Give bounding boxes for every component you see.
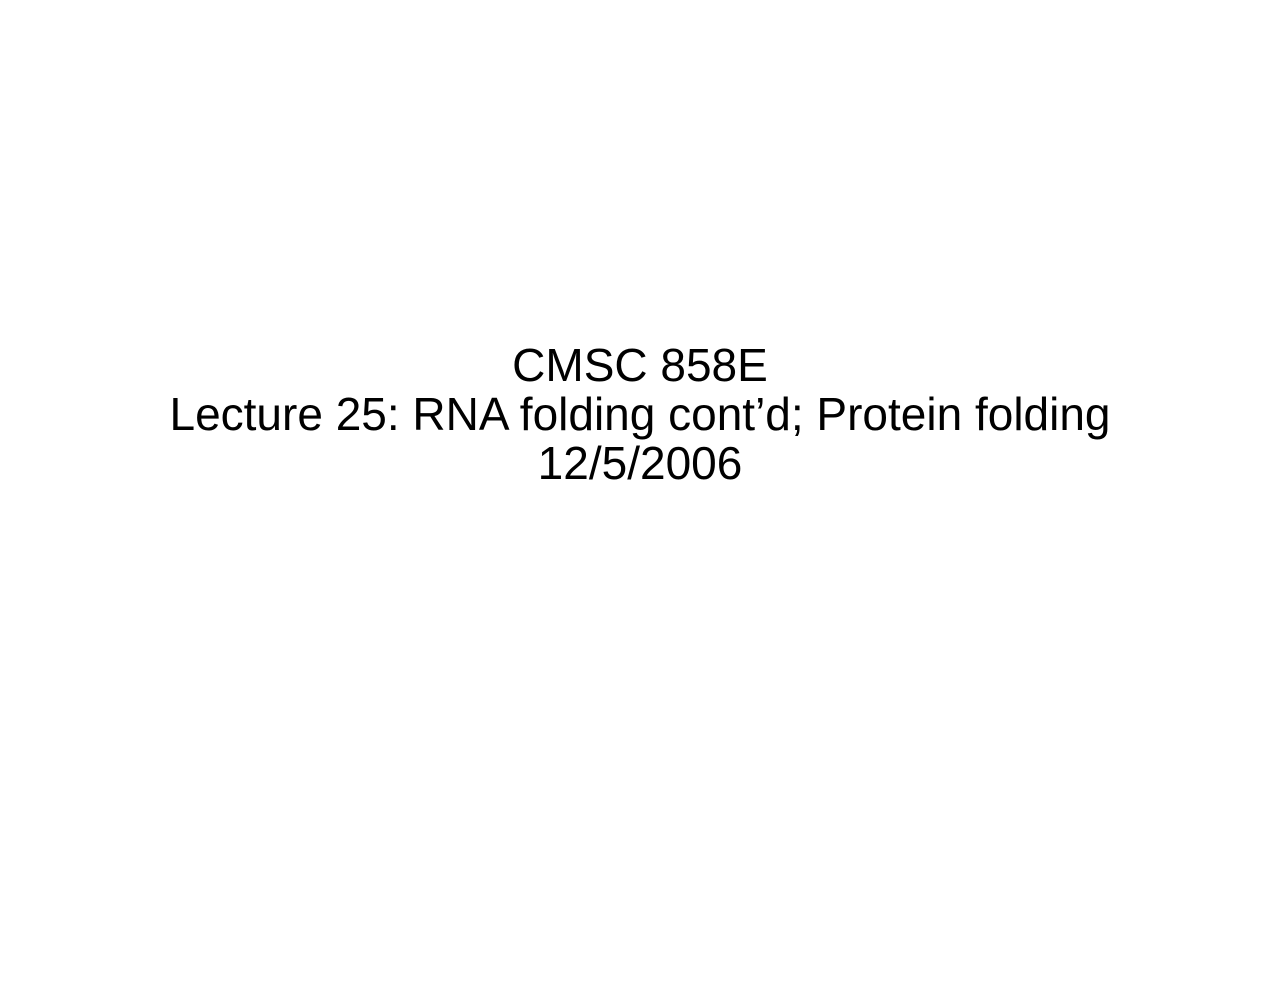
title-line-date: 12/5/2006 (0, 439, 1280, 488)
slide-title-block: CMSC 858E Lecture 25: RNA folding cont’d… (0, 341, 1280, 488)
title-line-lecture: Lecture 25: RNA folding cont’d; Protein … (0, 390, 1280, 439)
presentation-slide: CMSC 858E Lecture 25: RNA folding cont’d… (0, 0, 1280, 989)
title-line-course: CMSC 858E (0, 341, 1280, 390)
